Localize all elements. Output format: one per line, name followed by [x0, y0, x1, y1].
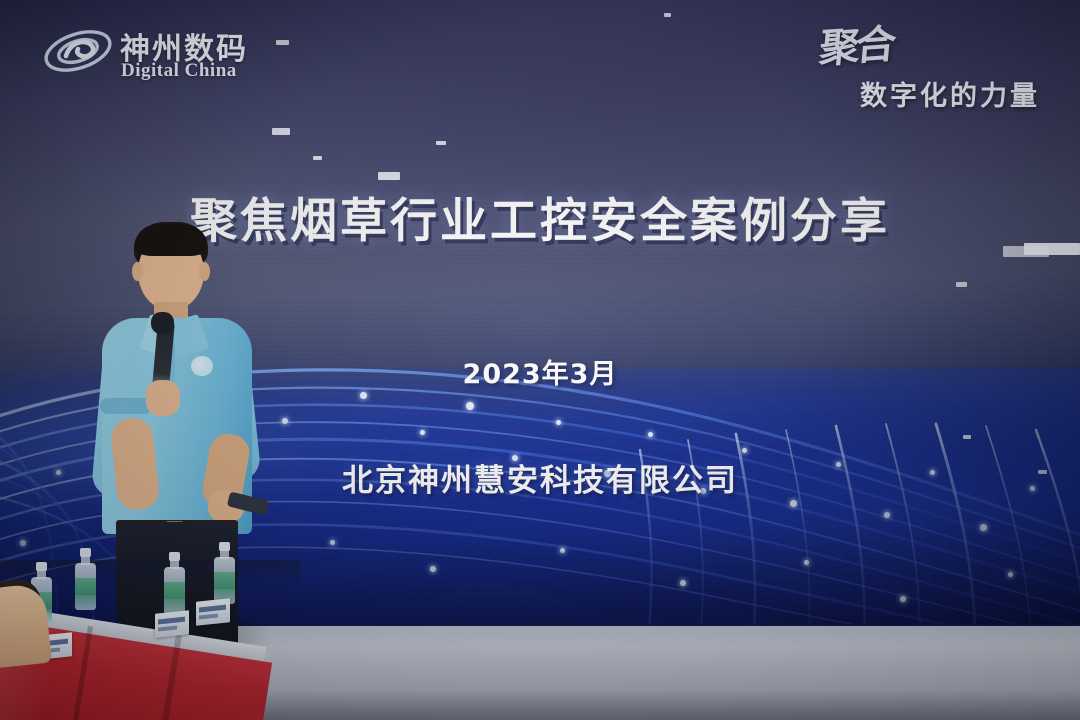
presenter-hair-top	[134, 224, 208, 256]
presenter-sleeve-left	[100, 398, 152, 414]
presenter-ear-left	[132, 262, 143, 281]
swirl-logo-icon	[42, 22, 114, 80]
shirt-logo-icon	[191, 356, 213, 376]
water-bottle	[74, 548, 96, 610]
name-card	[155, 610, 189, 638]
name-card	[196, 598, 230, 626]
presenter-ear-right	[199, 262, 210, 281]
bottle-label	[164, 582, 185, 599]
name-card-text-line	[158, 625, 177, 631]
water-bottle	[163, 552, 185, 614]
presenter-hand-left	[146, 380, 180, 416]
event-logo: 聚合 数字化的力量	[806, 14, 1056, 110]
name-card-text-line	[158, 617, 185, 625]
bottle-label	[214, 572, 235, 589]
name-card-text-line	[199, 613, 218, 619]
event-calligraphy: 聚合	[817, 12, 895, 75]
name-card-text-line	[199, 605, 226, 613]
water-bottle	[213, 542, 235, 604]
bottle-label	[75, 578, 96, 595]
digital-china-logo: 神州数码 Digital China	[42, 18, 282, 86]
event-tagline: 数字化的力量	[860, 74, 1040, 113]
brand-name-en: Digital China	[121, 60, 237, 82]
microphone-head-icon	[151, 312, 174, 334]
conference-photo: 神州数码 Digital China 聚合 数字化的力量 聚焦烟草行业工控安全案…	[0, 0, 1080, 720]
